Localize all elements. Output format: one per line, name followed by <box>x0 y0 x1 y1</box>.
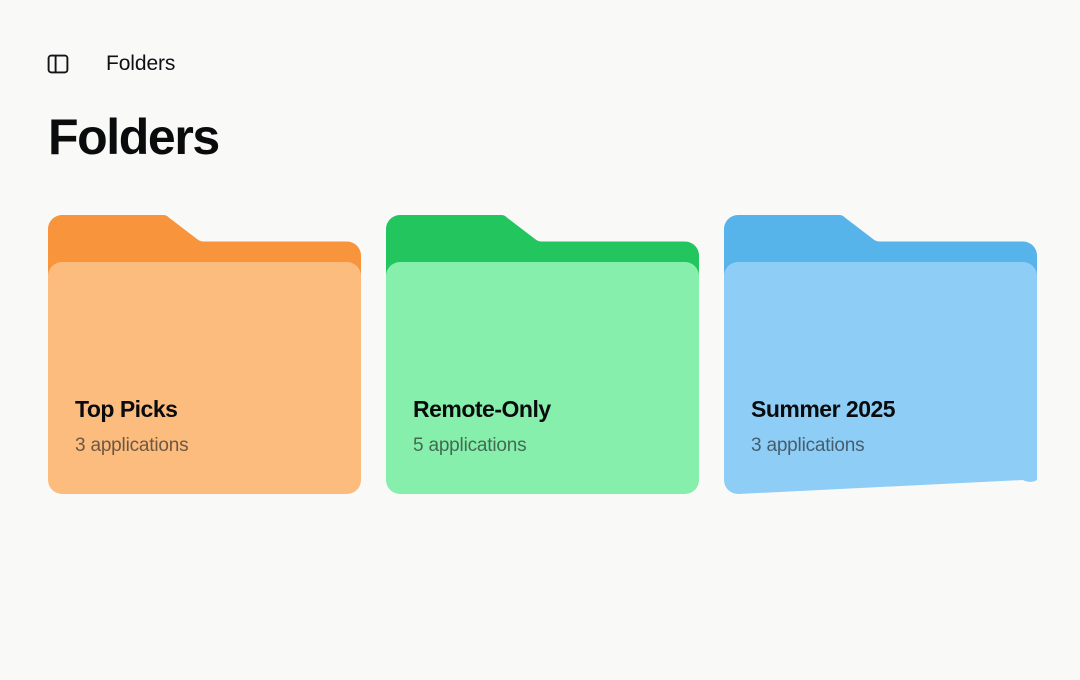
sidebar-panel-icon[interactable] <box>38 44 78 84</box>
folder-body-shape <box>48 262 361 494</box>
folder-card-summer-2025[interactable]: Summer 2025 3 applications <box>724 215 1037 494</box>
topbar: Folders <box>48 44 175 84</box>
folder-shape <box>386 215 699 494</box>
folder-shape <box>48 215 361 494</box>
folder-shape <box>724 215 1037 494</box>
folder-card-top-picks[interactable]: Top Picks 3 applications <box>48 215 361 494</box>
folders-page: Folders Folders Top Picks 3 applications… <box>0 0 1080 680</box>
folder-grid: Top Picks 3 applications Remote-Only 5 a… <box>48 215 1037 494</box>
folder-card-remote-only[interactable]: Remote-Only 5 applications <box>386 215 699 494</box>
folder-body-shape <box>724 262 1037 494</box>
folder-body-shape <box>386 262 699 494</box>
page-title: Folders <box>48 108 219 166</box>
breadcrumb: Folders <box>106 52 175 76</box>
